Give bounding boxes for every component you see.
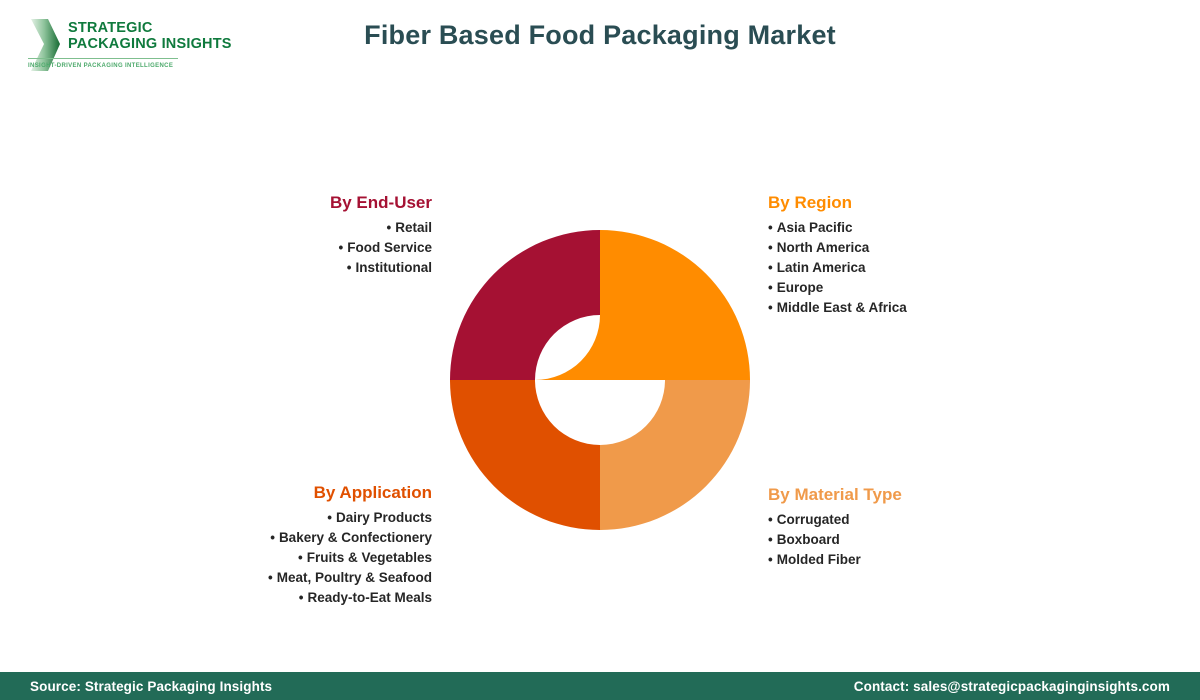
list-item: •Corrugated [768, 510, 1068, 530]
bullet-icon: • [768, 280, 773, 295]
bullet-icon: • [387, 220, 392, 235]
list-item-label: Retail [395, 220, 432, 235]
donut-slice-material-type[interactable] [600, 380, 750, 530]
list-item: •Asia Pacific [768, 218, 1068, 238]
logo-tagline: INSIGHT-DRIVEN PACKAGING INTELLIGENCE [28, 63, 232, 69]
segment-material-type-title: By Material Type [768, 484, 1068, 506]
donut-slice-end-user[interactable] [450, 230, 600, 380]
footer-bar: Source: Strategic Packaging Insights Con… [0, 672, 1200, 700]
list-item-label: Fruits & Vegetables [307, 550, 432, 565]
list-item: •Fruits & Vegetables [160, 548, 432, 568]
segment-application-title: By Application [160, 482, 432, 504]
donut-slice-application[interactable] [450, 380, 600, 530]
list-item: •Bakery & Confectionery [160, 528, 432, 548]
bullet-icon: • [338, 240, 343, 255]
list-item-label: Europe [777, 280, 824, 295]
list-item: •Food Service [180, 238, 432, 258]
list-item-label: Boxboard [777, 532, 840, 547]
list-item: •Europe [768, 278, 1068, 298]
bullet-icon: • [298, 550, 303, 565]
segment-material-type-list: •Corrugated•Boxboard•Molded Fiber [768, 510, 1068, 570]
footer-contact: Contact: sales@strategicpackaginginsight… [854, 679, 1170, 694]
page-title: Fiber Based Food Packaging Market [0, 20, 1200, 51]
list-item-label: Food Service [347, 240, 432, 255]
logo-divider [28, 58, 178, 59]
list-item: •Dairy Products [160, 508, 432, 528]
segment-region-list: •Asia Pacific•North America•Latin Americ… [768, 218, 1068, 318]
bullet-icon: • [768, 512, 773, 527]
list-item: •Boxboard [768, 530, 1068, 550]
list-item-label: Latin America [777, 260, 866, 275]
bullet-icon: • [768, 300, 773, 315]
bullet-icon: • [768, 220, 773, 235]
list-item-label: Ready-to-Eat Meals [307, 590, 432, 605]
list-item-label: Corrugated [777, 512, 850, 527]
bullet-icon: • [270, 530, 275, 545]
list-item-label: Middle East & Africa [777, 300, 907, 315]
list-item: •North America [768, 238, 1068, 258]
segment-region: By Region •Asia Pacific•North America•La… [768, 192, 1068, 318]
list-item-label: Molded Fiber [777, 552, 861, 567]
segment-end-user: By End-User •Retail•Food Service•Institu… [180, 192, 432, 278]
donut-chart-svg [450, 230, 750, 530]
bullet-icon: • [768, 240, 773, 255]
bullet-icon: • [299, 590, 304, 605]
segment-end-user-list: •Retail•Food Service•Institutional [180, 218, 432, 278]
bullet-icon: • [347, 260, 352, 275]
list-item: •Ready-to-Eat Meals [160, 588, 432, 608]
infographic-page: STRATEGIC PACKAGING INSIGHTS INSIGHT-DRI… [0, 0, 1200, 700]
list-item: •Molded Fiber [768, 550, 1068, 570]
bullet-icon: • [768, 552, 773, 567]
list-item-label: Meat, Poultry & Seafood [277, 570, 432, 585]
donut-chart [450, 230, 750, 530]
segment-end-user-title: By End-User [180, 192, 432, 214]
list-item-label: Asia Pacific [777, 220, 853, 235]
bullet-icon: • [768, 532, 773, 547]
segment-application: By Application •Dairy Products•Bakery & … [160, 482, 432, 608]
list-item: •Middle East & Africa [768, 298, 1068, 318]
list-item-label: Dairy Products [336, 510, 432, 525]
bullet-icon: • [768, 260, 773, 275]
list-item: •Latin America [768, 258, 1068, 278]
list-item: •Institutional [180, 258, 432, 278]
footer-source: Source: Strategic Packaging Insights [30, 679, 272, 694]
segment-region-title: By Region [768, 192, 1068, 214]
list-item: •Meat, Poultry & Seafood [160, 568, 432, 588]
list-item-label: Bakery & Confectionery [279, 530, 432, 545]
bullet-icon: • [327, 510, 332, 525]
bullet-icon: • [268, 570, 273, 585]
segment-application-list: •Dairy Products•Bakery & Confectionery•F… [160, 508, 432, 608]
list-item-label: North America [777, 240, 870, 255]
list-item: •Retail [180, 218, 432, 238]
segment-material-type: By Material Type •Corrugated•Boxboard•Mo… [768, 484, 1068, 570]
list-item-label: Institutional [356, 260, 433, 275]
